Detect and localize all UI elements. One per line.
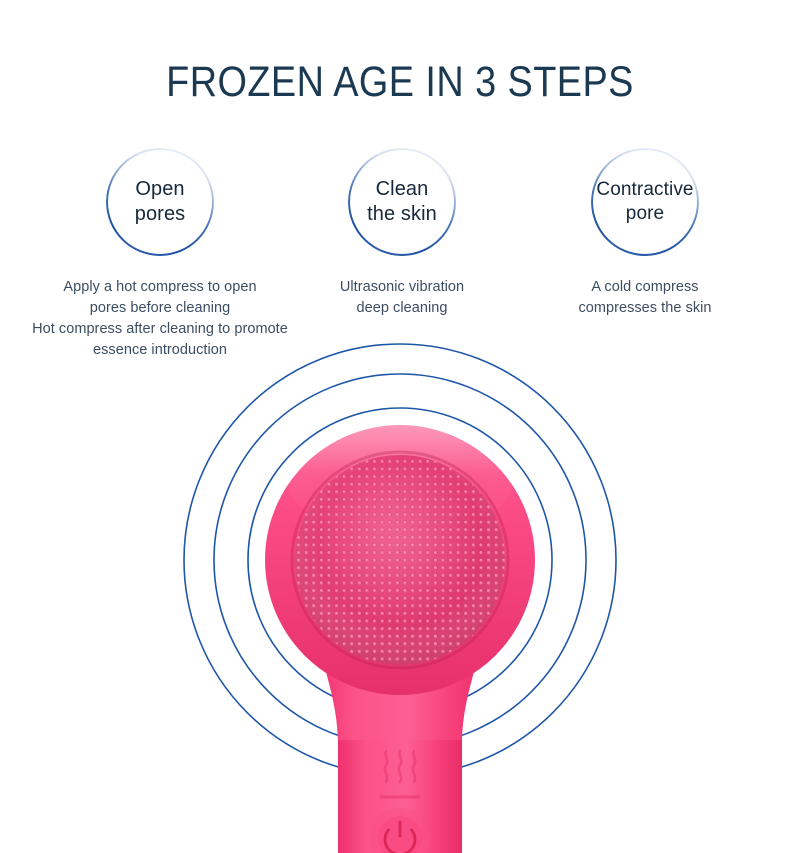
infographic-page: FROZEN AGE IN 3 STEPS Open pores Apply a… (0, 0, 800, 853)
step-circle-3: Contractive pore (591, 148, 699, 256)
brush-face-shading (295, 455, 505, 665)
cleansing-brush-device (0, 330, 800, 853)
page-title: FROZEN AGE IN 3 STEPS (48, 58, 752, 107)
step-circle-label-2: Clean the skin (348, 177, 456, 227)
step-circle-label-1: Open pores (106, 177, 214, 227)
step-caption-3: A cold compress compresses the skin (500, 277, 790, 319)
product-illustration (0, 330, 800, 853)
step-contractive-pore: Contractive pore A cold compress compres… (500, 140, 790, 319)
step-open-pores: Open pores Apply a hot compress to open … (20, 140, 300, 361)
step-circle-1: Open pores (106, 148, 214, 256)
step-circle-label-3: Contractive pore (591, 178, 699, 226)
step-circle-2: Clean the skin (348, 148, 456, 256)
